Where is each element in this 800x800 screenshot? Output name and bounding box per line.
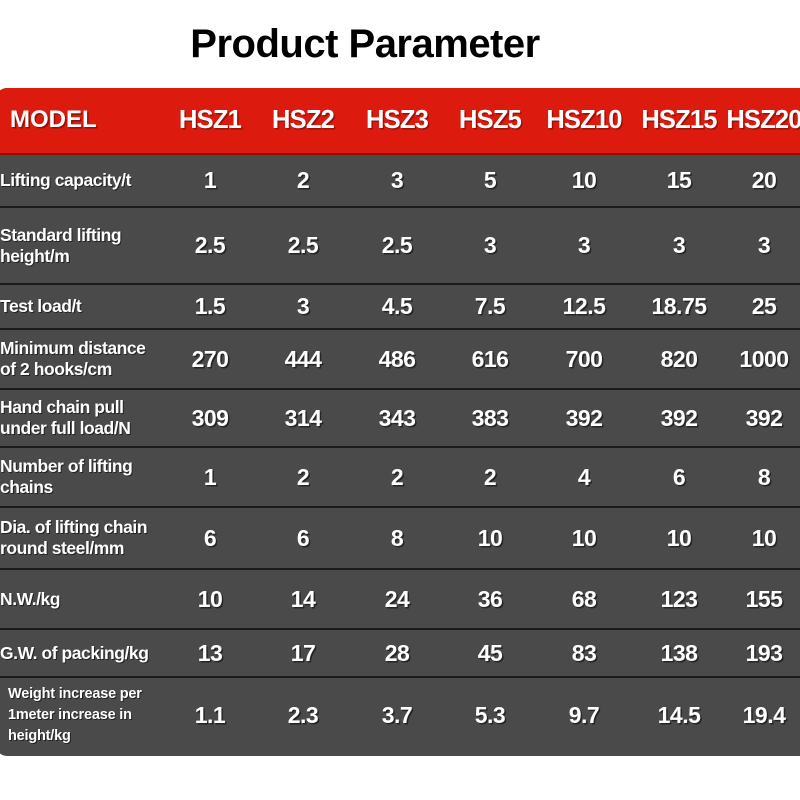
table-cell: 18.75 bbox=[632, 285, 726, 328]
table-cell: 2 bbox=[256, 155, 350, 206]
table-cell: 309 bbox=[164, 390, 256, 446]
table-row: N.W./kg1014243668123155 bbox=[0, 570, 800, 630]
header-cell-model-hsz2: HSZ2 bbox=[256, 88, 350, 153]
table-cell: 2.5 bbox=[350, 208, 444, 283]
table-cell: 2 bbox=[444, 448, 536, 506]
table-cell: 270 bbox=[164, 330, 256, 388]
table-cell: 14 bbox=[256, 570, 350, 628]
table-cell: 392 bbox=[632, 390, 726, 446]
table-cell: 6 bbox=[632, 448, 726, 506]
table-cell: 155 bbox=[726, 570, 800, 628]
table-cell: 2 bbox=[256, 448, 350, 506]
table-row: Standard lifting height/m2.52.52.53333 bbox=[0, 208, 800, 285]
table-cell: 1.5 bbox=[164, 285, 256, 328]
row-label: G.W. of packing/kg bbox=[0, 630, 164, 676]
table-cell: 12.5 bbox=[536, 285, 632, 328]
table-cell: 3.7 bbox=[350, 678, 444, 753]
table-cell: 24 bbox=[350, 570, 444, 628]
table-header-row: MODELHSZ1HSZ2HSZ3HSZ5HSZ10HSZ15HSZ20 bbox=[0, 88, 800, 155]
table-cell: 19.4 bbox=[726, 678, 800, 753]
header-cell-model-hsz15: HSZ15 bbox=[632, 88, 726, 153]
table-row: G.W. of packing/kg1317284583138193 bbox=[0, 630, 800, 678]
table-cell: 2.5 bbox=[256, 208, 350, 283]
row-label: Hand chain pull under full load/N bbox=[0, 390, 164, 446]
product-parameter-page: Product Parameter MODELHSZ1HSZ2HSZ3HSZ5H… bbox=[0, 0, 800, 800]
table-cell: 10 bbox=[536, 155, 632, 206]
table-cell: 3 bbox=[726, 208, 800, 283]
table-cell: 28 bbox=[350, 630, 444, 676]
table-cell: 383 bbox=[444, 390, 536, 446]
table-cell: 10 bbox=[444, 508, 536, 568]
table-cell: 3 bbox=[536, 208, 632, 283]
table-cell: 2 bbox=[350, 448, 444, 506]
table-cell: 17 bbox=[256, 630, 350, 676]
table-cell: 45 bbox=[444, 630, 536, 676]
table-cell: 8 bbox=[726, 448, 800, 506]
table-cell: 3 bbox=[632, 208, 726, 283]
table-cell: 20 bbox=[726, 155, 800, 206]
row-label: Test load/t bbox=[0, 285, 164, 328]
table-cell: 3 bbox=[256, 285, 350, 328]
table-cell: 9.7 bbox=[536, 678, 632, 753]
table-cell: 2.5 bbox=[164, 208, 256, 283]
table-cell: 1.1 bbox=[164, 678, 256, 753]
table-row: Weight increase per 1meter increase in h… bbox=[0, 678, 800, 753]
row-label: Lifting capacity/t bbox=[0, 155, 164, 206]
row-label: Number of lifting chains bbox=[0, 448, 164, 506]
page-title: Product Parameter bbox=[0, 22, 730, 67]
table-cell: 13 bbox=[164, 630, 256, 676]
table-cell: 138 bbox=[632, 630, 726, 676]
table-cell: 392 bbox=[726, 390, 800, 446]
table-cell: 3 bbox=[350, 155, 444, 206]
table-cell: 444 bbox=[256, 330, 350, 388]
table-cell: 486 bbox=[350, 330, 444, 388]
header-cell-model-hsz20: HSZ20 bbox=[726, 88, 800, 153]
table-cell: 15 bbox=[632, 155, 726, 206]
table-cell: 10 bbox=[632, 508, 726, 568]
table-cell: 616 bbox=[444, 330, 536, 388]
table-cell: 123 bbox=[632, 570, 726, 628]
table-row: Lifting capacity/t1235101520 bbox=[0, 155, 800, 208]
table-cell: 3 bbox=[444, 208, 536, 283]
table-cell: 343 bbox=[350, 390, 444, 446]
table-cell: 36 bbox=[444, 570, 536, 628]
header-cell-model-hsz5: HSZ5 bbox=[444, 88, 536, 153]
table-cell: 10 bbox=[536, 508, 632, 568]
table-row: Test load/t1.534.57.512.518.7525 bbox=[0, 285, 800, 330]
table-cell: 25 bbox=[726, 285, 800, 328]
table-row: Hand chain pull under full load/N3093143… bbox=[0, 390, 800, 448]
table-cell: 5 bbox=[444, 155, 536, 206]
table-cell: 6 bbox=[256, 508, 350, 568]
header-cell-model-hsz3: HSZ3 bbox=[350, 88, 444, 153]
header-cell-model: MODEL bbox=[0, 88, 164, 153]
header-cell-model-hsz1: HSZ1 bbox=[164, 88, 256, 153]
table-row: Minimum distance of 2 hooks/cm2704444866… bbox=[0, 330, 800, 390]
table-cell: 4 bbox=[536, 448, 632, 506]
table-cell: 10 bbox=[164, 570, 256, 628]
row-label: Dia. of lifting chain round steel/mm bbox=[0, 508, 164, 568]
row-label: Standard lifting height/m bbox=[0, 208, 164, 283]
specification-table: MODELHSZ1HSZ2HSZ3HSZ5HSZ10HSZ15HSZ20Lift… bbox=[0, 88, 800, 756]
table-cell: 1 bbox=[164, 448, 256, 506]
table-cell: 4.5 bbox=[350, 285, 444, 328]
table-cell: 8 bbox=[350, 508, 444, 568]
table-cell: 820 bbox=[632, 330, 726, 388]
table-cell: 1000 bbox=[726, 330, 800, 388]
table-cell: 1 bbox=[164, 155, 256, 206]
table-row: Dia. of lifting chain round steel/mm6681… bbox=[0, 508, 800, 570]
table-cell: 7.5 bbox=[444, 285, 536, 328]
table-cell: 68 bbox=[536, 570, 632, 628]
table-row: Number of lifting chains1222468 bbox=[0, 448, 800, 508]
table-cell: 2.3 bbox=[256, 678, 350, 753]
table-cell: 700 bbox=[536, 330, 632, 388]
table-cell: 193 bbox=[726, 630, 800, 676]
table-cell: 314 bbox=[256, 390, 350, 446]
header-cell-model-hsz10: HSZ10 bbox=[536, 88, 632, 153]
table-cell: 392 bbox=[536, 390, 632, 446]
row-label: N.W./kg bbox=[0, 570, 164, 628]
table-cell: 6 bbox=[164, 508, 256, 568]
table-cell: 14.5 bbox=[632, 678, 726, 753]
row-label: Minimum distance of 2 hooks/cm bbox=[0, 330, 164, 388]
table-cell: 83 bbox=[536, 630, 632, 676]
table-cell: 5.3 bbox=[444, 678, 536, 753]
row-label: Weight increase per 1meter increase in h… bbox=[0, 678, 164, 753]
table-cell: 10 bbox=[726, 508, 800, 568]
